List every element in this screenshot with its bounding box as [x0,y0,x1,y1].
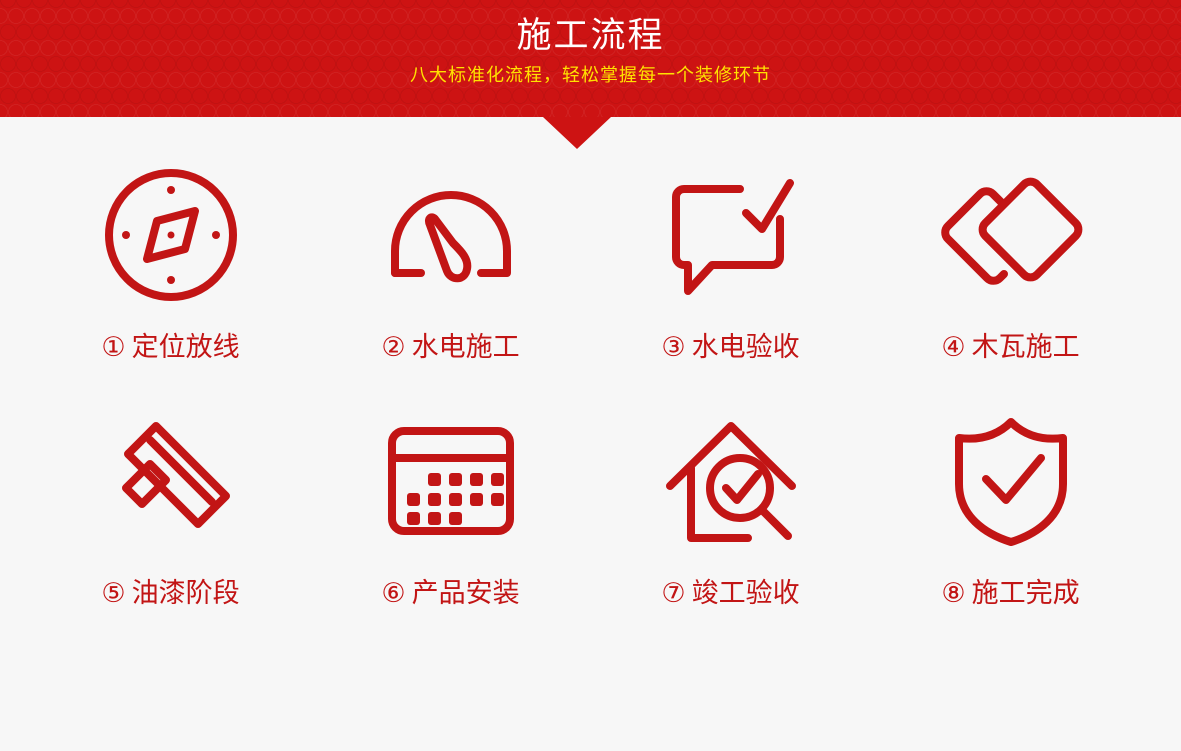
step-text-1: 定位放线 [132,332,240,362]
step-label-5: ⑤油漆阶段 [31,575,311,611]
step-text-3: 水电验收 [692,332,800,362]
steps-row-1: ①定位放线 ②水电施工 [31,155,1151,365]
page-title: 施工流程 [0,0,1181,58]
step-label-6: ⑥产品安装 [311,575,591,611]
step-item-4[interactable]: ④木瓦施工 [871,155,1151,365]
step-text-6: 产品安装 [412,578,520,608]
step-number-3: ③ [661,332,685,362]
step-item-1[interactable]: ①定位放线 [31,155,311,365]
step-number-4: ④ [941,332,965,362]
house-magnifier-check-icon [591,401,871,561]
shield-check-icon [871,401,1151,561]
compass-icon [31,155,311,315]
paint-roller-icon [31,401,311,561]
step-text-8: 施工完成 [972,578,1080,608]
step-item-8[interactable]: ⑧施工完成 [871,401,1151,611]
step-text-5: 油漆阶段 [132,578,240,608]
step-item-2[interactable]: ②水电施工 [311,155,591,365]
step-label-7: ⑦竣工验收 [591,575,871,611]
step-label-3: ③水电验收 [591,329,871,365]
process-steps: ①定位放线 ②水电施工 [0,117,1181,611]
step-text-7: 竣工验收 [692,578,800,608]
step-label-4: ④木瓦施工 [871,329,1151,365]
step-number-2: ② [381,332,405,362]
step-text-2: 水电施工 [412,332,520,362]
steps-row-2: ⑤油漆阶段 [31,401,1151,611]
step-number-6: ⑥ [381,578,405,608]
step-number-5: ⑤ [101,578,125,608]
overlapping-tiles-icon [871,155,1151,315]
step-item-7[interactable]: ⑦竣工验收 [591,401,871,611]
gauge-icon [311,155,591,315]
speech-bubble-check-icon [591,155,871,315]
step-item-6[interactable]: ⑥产品安装 [311,401,591,611]
step-item-5[interactable]: ⑤油漆阶段 [31,401,311,611]
page-header: 施工流程 八大标准化流程，轻松掌握每一个装修环节 [0,0,1181,117]
header-arrow-pointer [543,117,611,149]
step-number-1: ① [101,332,125,362]
step-number-8: ⑧ [941,578,965,608]
step-text-4: 木瓦施工 [972,332,1080,362]
step-label-2: ②水电施工 [311,329,591,365]
page-subtitle: 八大标准化流程，轻松掌握每一个装修环节 [0,58,1181,88]
step-label-1: ①定位放线 [31,329,311,365]
step-number-7: ⑦ [661,578,685,608]
step-item-3[interactable]: ③水电验收 [591,155,871,365]
step-label-8: ⑧施工完成 [871,575,1151,611]
calendar-icon [311,401,591,561]
